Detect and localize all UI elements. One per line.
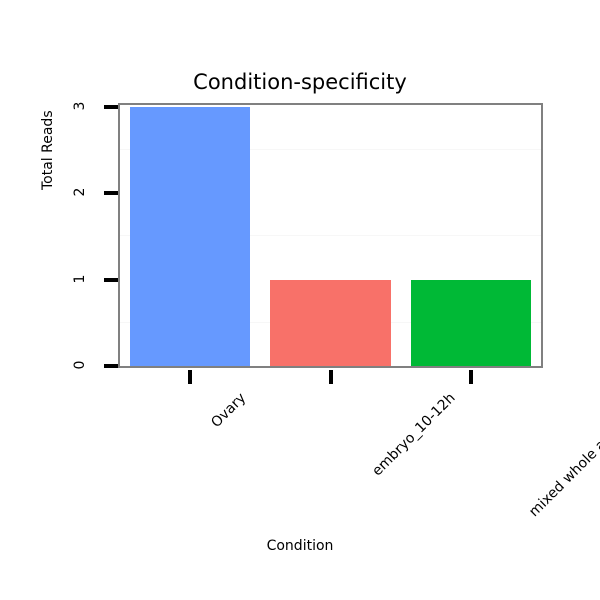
y-tick-label: 2	[72, 182, 88, 202]
bar	[130, 107, 250, 366]
y-axis-title: Total Reads	[40, 166, 56, 190]
x-tick-label: mixed whole adult body	[526, 390, 600, 520]
y-tick-label: 1	[72, 269, 88, 289]
y-tick-label: 3	[72, 96, 88, 116]
chart-title: Condition-specificity	[0, 70, 600, 94]
y-tick-mark	[104, 364, 118, 368]
x-tick-label: embryo_10-12h	[369, 390, 458, 479]
bar-chart: Condition-specificity Total Reads 0123 O…	[0, 0, 600, 600]
plot-panel	[118, 103, 543, 368]
x-tick-mark	[188, 370, 192, 384]
y-tick-label: 0	[72, 355, 88, 375]
y-tick-mark	[104, 191, 118, 195]
y-tick-mark	[104, 105, 118, 109]
x-axis-title: Condition	[0, 538, 600, 554]
x-tick-label: Ovary	[208, 390, 249, 431]
y-tick-mark	[104, 278, 118, 282]
bar	[411, 280, 531, 366]
x-tick-mark	[329, 370, 333, 384]
bar	[270, 280, 390, 366]
x-tick-mark	[469, 370, 473, 384]
